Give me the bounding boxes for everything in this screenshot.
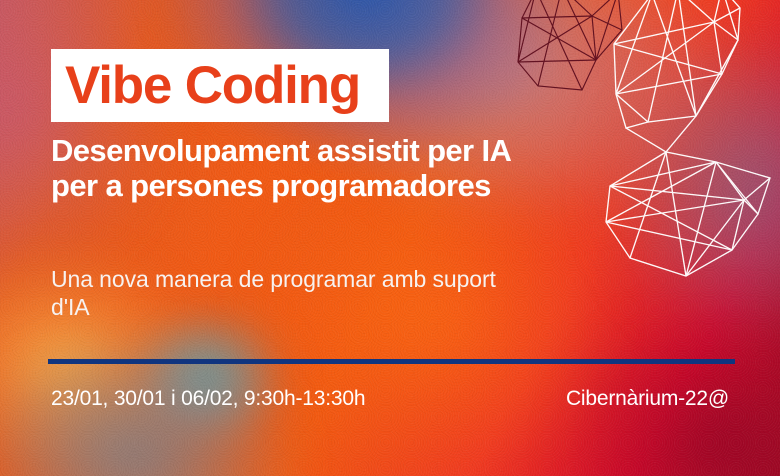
poster-title: Vibe Coding bbox=[51, 59, 360, 112]
poster-canvas: Vibe Coding Desenvolupament assistit per… bbox=[0, 0, 780, 476]
footer-venue: Cibernàrium-22@ bbox=[566, 386, 735, 411]
poster-footer: 23/01, 30/01 i 06/02, 9:30h-13:30h Ciber… bbox=[51, 386, 735, 411]
title-highlight-box: Vibe Coding bbox=[51, 49, 389, 122]
poster-headline: Desenvolupament assistit per IA per a pe… bbox=[51, 134, 531, 203]
poster-content: Vibe Coding Desenvolupament assistit per… bbox=[0, 0, 780, 476]
footer-dates: 23/01, 30/01 i 06/02, 9:30h-13:30h bbox=[51, 386, 365, 411]
poster-subheadline: Una nova manera de programar amb suport … bbox=[51, 265, 521, 321]
divider-rule bbox=[48, 359, 735, 364]
